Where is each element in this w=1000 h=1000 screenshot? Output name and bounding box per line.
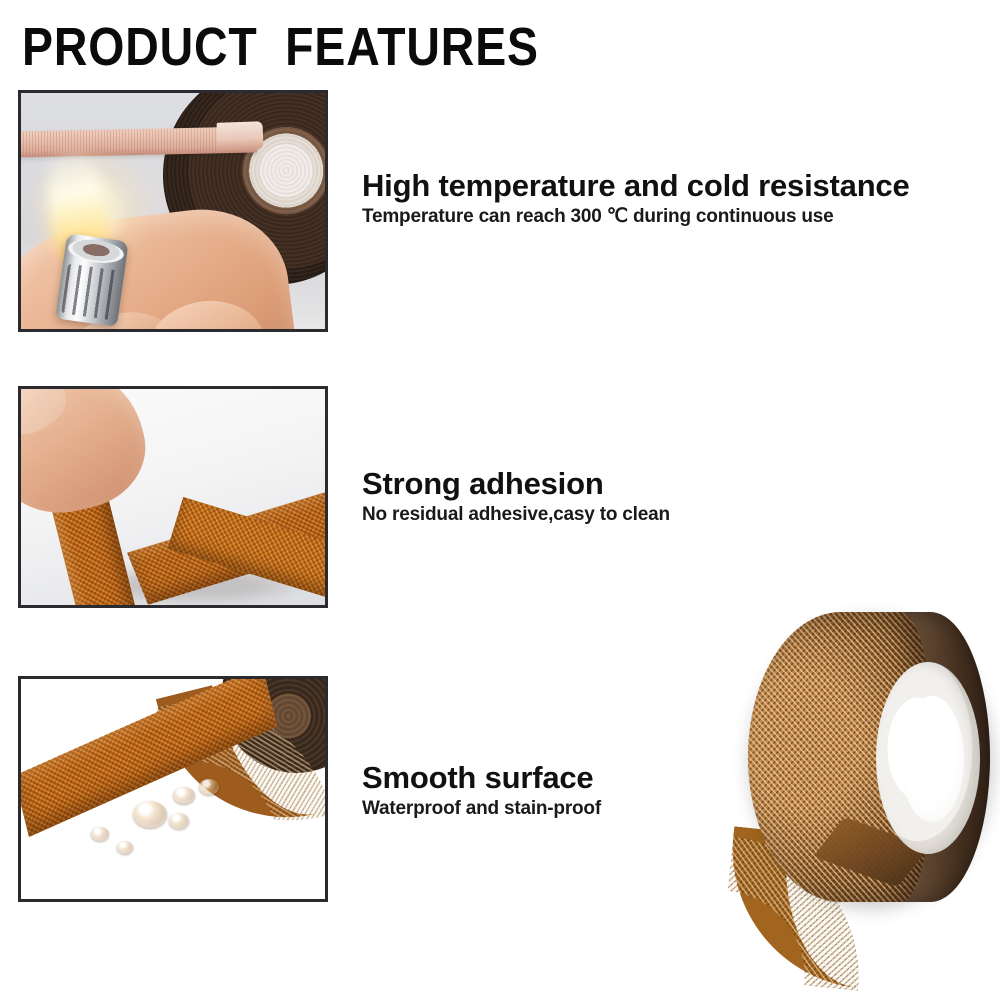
- feature-title: Strong adhesion: [362, 466, 670, 502]
- feature-block-high-temperature: High temperature and cold resistance Tem…: [362, 168, 910, 230]
- thumbnail: [21, 389, 75, 444]
- feature-title: High temperature and cold resistance: [362, 168, 910, 204]
- water-droplet: [117, 841, 133, 854]
- tape-roll-core-hole: [900, 696, 964, 822]
- water-droplet: [173, 787, 195, 804]
- feature-subtitle: Waterproof and stain-proof: [362, 796, 601, 822]
- adhesion-peel-photo: [18, 386, 328, 608]
- waterproof-droplets-photo: [18, 676, 328, 902]
- water-droplet: [169, 813, 189, 829]
- lighter-nozzle: [67, 236, 126, 266]
- finger: [138, 291, 274, 329]
- adhesion-peel-photo-content: [21, 389, 325, 605]
- water-droplet: [199, 779, 219, 795]
- ptfe-tape-roll: [730, 600, 998, 996]
- feature-subtitle: Temperature can reach 300 ℃ during conti…: [362, 204, 910, 230]
- page-title: PRODUCT FEATURES: [22, 18, 539, 76]
- lighter: [55, 233, 128, 327]
- water-droplet: [133, 801, 167, 828]
- water-droplet: [91, 827, 109, 841]
- lighter-grooves: [61, 264, 119, 321]
- feature-block-strong-adhesion: Strong adhesion No residual adhesive,cas…: [362, 466, 670, 528]
- feature-title: Smooth surface: [362, 760, 601, 796]
- feature-block-smooth-surface: Smooth surface Waterproof and stain-proo…: [362, 760, 601, 822]
- flame-test-photo-content: [21, 93, 325, 329]
- waterproof-droplets-photo-content: [21, 679, 325, 899]
- feature-subtitle: No residual adhesive,casy to clean: [362, 502, 670, 528]
- tape-strip-end: [217, 121, 264, 151]
- flame-test-photo: [18, 90, 328, 332]
